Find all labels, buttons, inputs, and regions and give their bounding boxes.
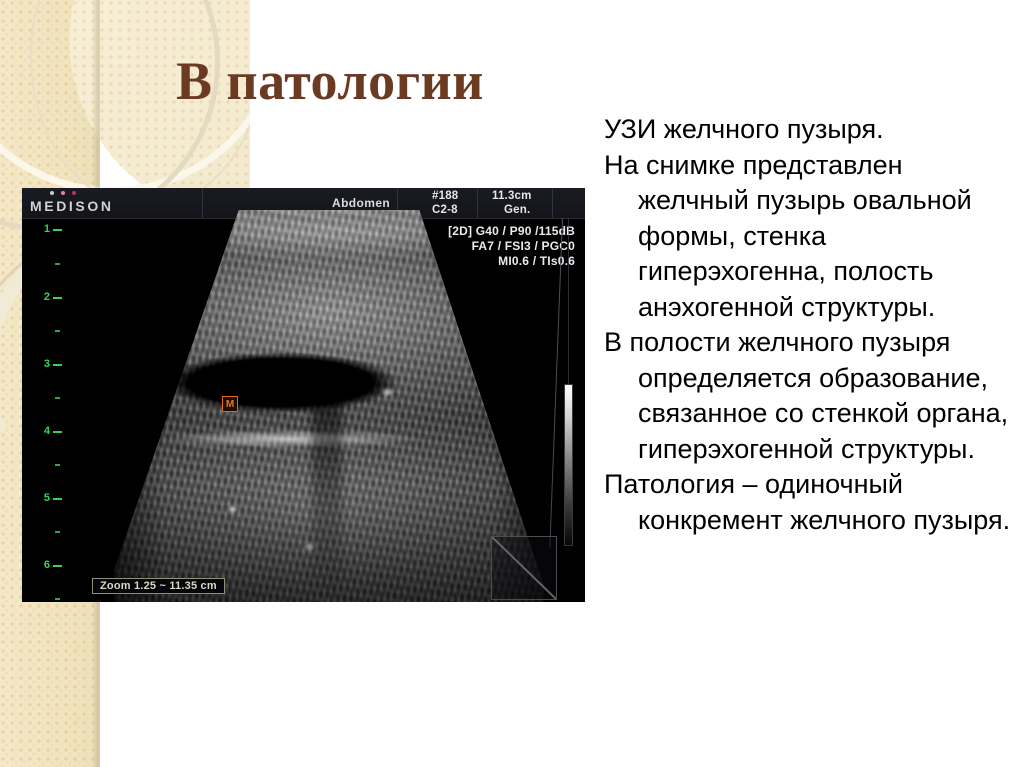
zoom-status-label: Zoom 1.25 ~ 11.35 cm (92, 578, 225, 594)
body-paragraph-1: УЗИ желчного пузыря. (604, 112, 1014, 148)
device-brand-label: MEDISON (30, 198, 114, 214)
header-divider-3 (477, 188, 478, 218)
depth-tick-4: 4 (44, 425, 50, 437)
medison-logo-dots (50, 191, 76, 195)
gamma-curve-box (491, 536, 557, 600)
body-paragraph-2: На снимке представлен желчный пузырь ова… (604, 148, 1014, 326)
slide-canvas: В патологии MEDISON Abdomen #188 C2-8 11… (0, 0, 1024, 767)
depth-tick-5: 5 (44, 492, 50, 504)
param-line-mi: MI0.6 / TIs0.6 (448, 254, 575, 269)
param-line-fa: FA7 / FSI3 / PGC0 (448, 239, 575, 254)
param-line-2d: [2D] G40 / P90 /115dB (448, 224, 575, 239)
orientation-marker-icon: M (222, 396, 238, 412)
depth-tick-6: 6 (44, 559, 50, 571)
probe-label: C2-8 (432, 204, 458, 216)
header-divider-4 (552, 188, 553, 218)
body-paragraph-4: Патология – одиночный конкремент желчног… (604, 467, 1014, 538)
acquisition-parameters: [2D] G40 / P90 /115dB FA7 / FSI3 / PGC0 … (448, 224, 575, 269)
depth-tick-2: 2 (44, 291, 50, 303)
depth-label: 11.3cm (492, 190, 532, 202)
preset-label: Gen. (504, 204, 530, 216)
ultrasound-image: MEDISON Abdomen #188 C2-8 11.3cm Gen. [2… (22, 188, 585, 602)
grayscale-bar (564, 384, 573, 546)
header-divider-1 (202, 188, 203, 218)
gamma-curve-icon (492, 537, 556, 599)
depth-scale-ruler: 1 2 3 4 5 6 7 8 9 10 11 (22, 218, 64, 602)
slide-body-text: УЗИ желчного пузыря. На снимке представл… (604, 112, 1014, 538)
study-id-label: #188 (432, 190, 458, 202)
exam-region-label: Abdomen (332, 196, 390, 210)
page-title: В патологии (176, 54, 484, 108)
body-paragraph-3: В полости желчного пузыря определяется о… (604, 325, 1014, 467)
depth-tick-1: 1 (44, 223, 50, 235)
depth-tick-3: 3 (44, 358, 50, 370)
